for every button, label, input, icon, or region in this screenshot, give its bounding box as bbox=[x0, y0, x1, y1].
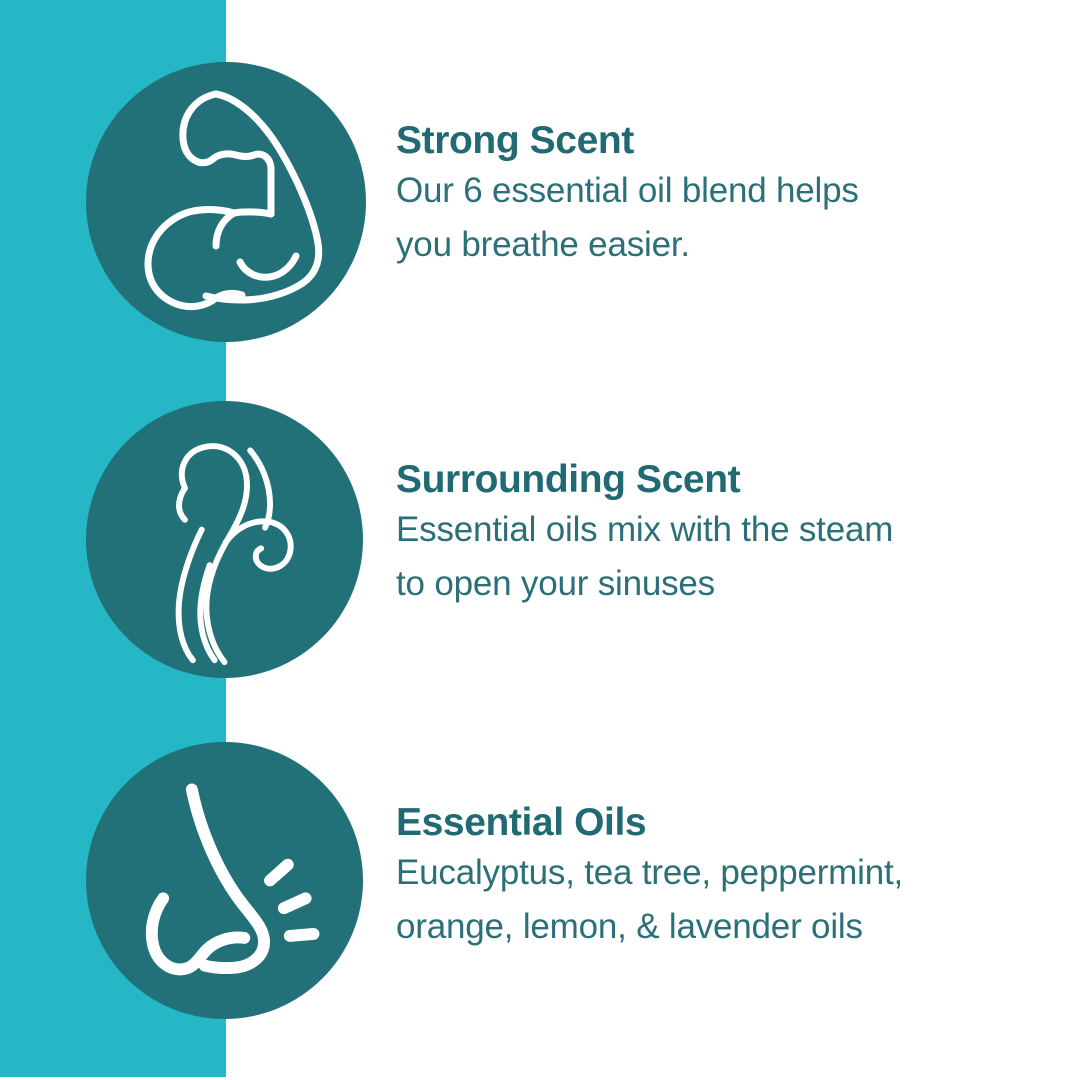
feature-description-line: to open your sinuses bbox=[396, 557, 1036, 611]
feature-description-line: Our 6 essential oil blend helps bbox=[396, 164, 1036, 218]
feature-text-block: Essential Oils Eucalyptus, tea tree, pep… bbox=[396, 800, 1036, 954]
feature-title: Strong Scent bbox=[396, 118, 1036, 164]
feature-description-line: Essential oils mix with the steam bbox=[396, 503, 1036, 557]
feature-description: Eucalyptus, tea tree, peppermint, orange… bbox=[396, 846, 1036, 954]
feature-icon-badge bbox=[86, 62, 366, 342]
feature-icon-badge bbox=[86, 401, 363, 678]
feature-description-line: orange, lemon, & lavender oils bbox=[396, 900, 1036, 954]
feature-text-block: Strong Scent Our 6 essential oil blend h… bbox=[396, 118, 1036, 272]
feature-icon-badge bbox=[86, 742, 363, 1019]
feature-text-block: Surrounding Scent Essential oils mix wit… bbox=[396, 457, 1036, 611]
feature-description-line: you breathe easier. bbox=[396, 218, 1036, 272]
feature-title: Essential Oils bbox=[396, 800, 1036, 846]
feature-list-poster: Strong Scent Our 6 essential oil blend h… bbox=[0, 0, 1080, 1080]
feature-title: Surrounding Scent bbox=[396, 457, 1036, 503]
feature-description: Essential oils mix with the steam to ope… bbox=[396, 503, 1036, 611]
feature-description-line: Eucalyptus, tea tree, peppermint, bbox=[396, 846, 1036, 900]
feature-description: Our 6 essential oil blend helps you brea… bbox=[396, 164, 1036, 272]
